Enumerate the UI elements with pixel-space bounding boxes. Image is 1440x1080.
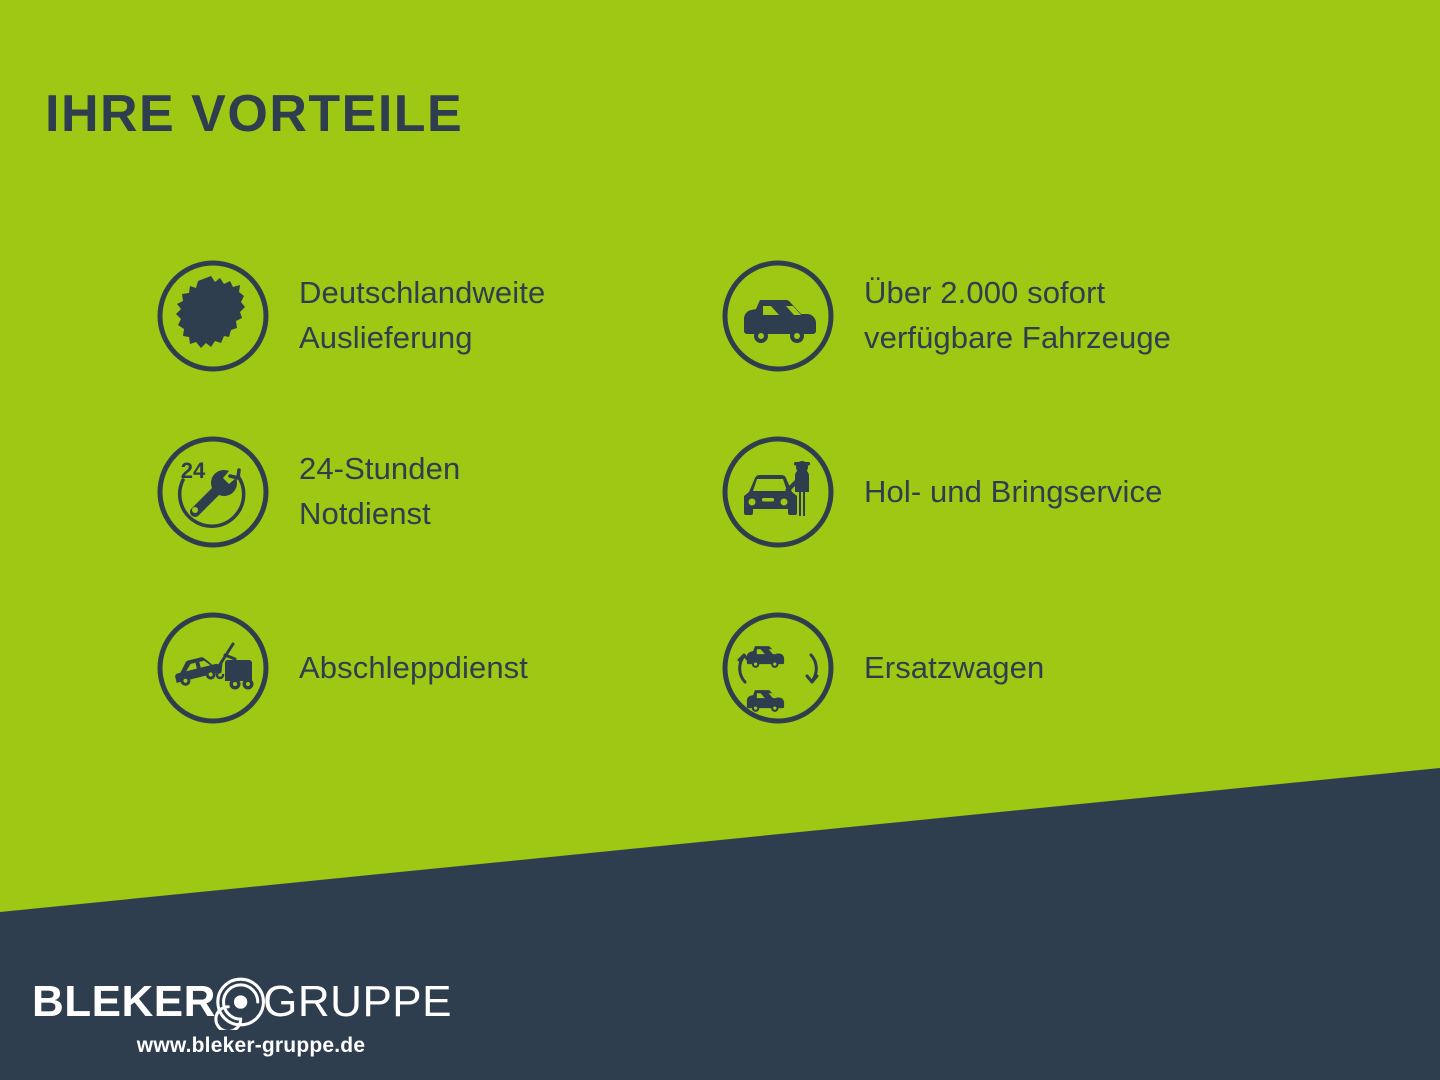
- benefit-label: 24-Stunden Notdienst: [299, 447, 460, 537]
- slide-canvas: IHRE VORTEILE Deutschlandweite Ausliefer…: [0, 0, 1440, 1080]
- logo-wordmark: BLEKER GRUPPE: [32, 976, 452, 1028]
- benefits-grid: Deutschlandweite Auslieferung Über 2.000…: [155, 228, 1355, 756]
- germany-map-icon: [155, 258, 271, 374]
- logo-primary-text: BLEKER: [32, 980, 216, 1024]
- spiral-circles-icon: [214, 974, 267, 1030]
- benefit-item-hol-und-bringservice: Hol- und Bringservice: [720, 404, 1285, 580]
- benefit-label: Abschleppdienst: [299, 646, 528, 691]
- benefit-label: Ersatzwagen: [864, 646, 1044, 691]
- benefit-item-ersatzwagen: Ersatzwagen: [720, 580, 1285, 756]
- page-title: IHRE VORTEILE: [45, 88, 463, 140]
- logo-url[interactable]: www.bleker-gruppe.de: [32, 1034, 452, 1058]
- car-with-person-icon: [720, 434, 836, 550]
- benefit-item-abschleppdienst: Abschleppdienst: [155, 580, 720, 756]
- benefit-item-24-stunden-notdienst: 24 24-Stunden Notdienst: [155, 404, 720, 580]
- benefit-item-deutschlandweite-auslieferung: Deutschlandweite Auslieferung: [155, 228, 720, 404]
- tow-truck-icon: [155, 610, 271, 726]
- car-side-icon: [720, 258, 836, 374]
- benefit-label: Hol- und Bringservice: [864, 470, 1162, 515]
- footer-logo[interactable]: BLEKER GRUPPE www.bleker-gruppe.de: [32, 976, 452, 1058]
- 24-hour-wrench-icon: 24: [155, 434, 271, 550]
- benefit-label: Über 2.000 sofort verfügbare Fahrzeuge: [864, 271, 1171, 361]
- benefit-item-verfuegbare-fahrzeuge: Über 2.000 sofort verfügbare Fahrzeuge: [720, 228, 1285, 404]
- logo-secondary-text: GRUPPE: [263, 980, 452, 1024]
- benefit-label: Deutschlandweite Auslieferung: [299, 271, 545, 361]
- two-cars-swap-icon: [720, 610, 836, 726]
